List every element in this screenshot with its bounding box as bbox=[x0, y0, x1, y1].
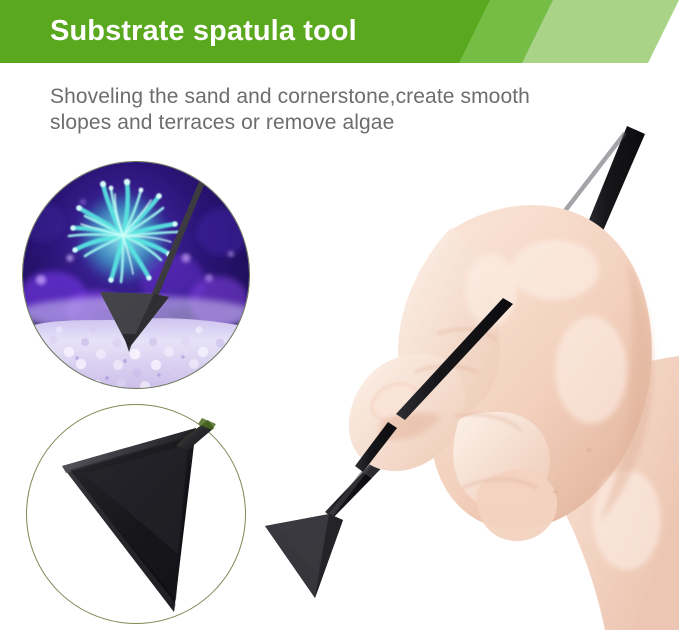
aquarium-scene bbox=[23, 162, 249, 388]
page-title: Substrate spatula tool bbox=[50, 12, 357, 50]
hand bbox=[349, 205, 679, 630]
hand-holding-tool-photo bbox=[255, 120, 679, 630]
blade-closeup-graphic bbox=[26, 404, 246, 624]
aquarium-photo-circle bbox=[22, 161, 250, 389]
blade-body bbox=[62, 428, 196, 612]
hand-and-tool-graphic bbox=[255, 120, 679, 630]
subtitle-line-1: Shoveling the sand and cornerstone,creat… bbox=[50, 84, 650, 110]
blade-closeup-circle bbox=[26, 404, 246, 624]
header-banner: Substrate spatula tool bbox=[0, 0, 679, 63]
tool-blade bbox=[265, 514, 343, 598]
